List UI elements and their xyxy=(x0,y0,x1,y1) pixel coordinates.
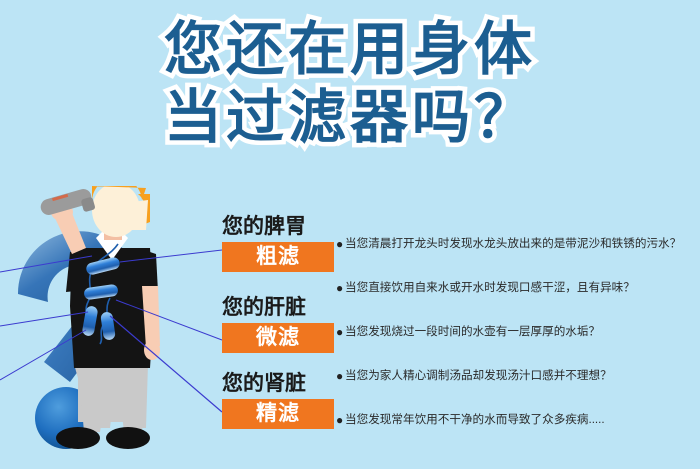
bullet-dot-icon: ● xyxy=(336,368,345,384)
organ-title-2: 您的肝脏 xyxy=(222,296,342,320)
bullet-text-4: 当您为家人精心调制汤品却发现汤汁口感并不理想？ xyxy=(345,368,612,384)
bullet-dot-icon: ● xyxy=(336,280,345,296)
list-item: ● 当您发现常年饮用不干净的水而导致了众多疾病..... xyxy=(336,412,692,456)
question-bullet-list: ● 当您清晨打开龙头时发现水龙头放出来的是带泥沙和铁锈的污水？ ● 当您直接饮用… xyxy=(336,236,692,456)
list-item: ● 当您清晨打开龙头时发现水龙头放出来的是带泥沙和铁锈的污水？ xyxy=(336,236,692,280)
list-item: ● 当您发现烧过一段时间的水壶有一层厚厚的水垢？ xyxy=(336,324,692,368)
bullet-text-2: 当您直接饮用自来水或开水时发现口感干涩，且有异味？ xyxy=(345,280,635,296)
organ-label-group-1: 您的脾胃 粗滤 xyxy=(222,215,342,272)
filter-badge-label-3: 精滤 xyxy=(256,403,300,425)
list-item: ● 当您为家人精心调制汤品却发现汤汁口感并不理想？ xyxy=(336,368,692,412)
organ-label-group-2: 您的肝脏 微滤 xyxy=(222,296,342,353)
filter-badge-2: 微滤 xyxy=(222,323,334,353)
filter-badge-label-2: 微滤 xyxy=(256,327,300,349)
filter-badge-1: 粗滤 xyxy=(222,242,334,272)
organ-title-1: 您的脾胃 xyxy=(222,215,342,239)
bullet-dot-icon: ● xyxy=(336,324,345,340)
list-item: ● 当您直接饮用自来水或开水时发现口感干涩，且有异味？ xyxy=(336,280,692,324)
bullet-dot-icon: ● xyxy=(336,412,345,428)
filter-badge-label-1: 粗滤 xyxy=(256,246,300,268)
bullet-text-5: 当您发现常年饮用不干净的水而导致了众多疾病..... xyxy=(345,412,605,428)
organ-label-group-3: 您的肾脏 精滤 xyxy=(222,372,342,429)
bullet-dot-icon: ● xyxy=(336,236,345,252)
organ-title-3: 您的肾脏 xyxy=(222,372,342,396)
filter-badge-3: 精滤 xyxy=(222,399,334,429)
poster-canvas: 您还在用身体 当过滤器吗？ xyxy=(0,0,700,469)
bullet-text-3: 当您发现烧过一段时间的水壶有一层厚厚的水垢？ xyxy=(345,324,600,340)
bullet-text-1: 当您清晨打开龙头时发现水龙头放出来的是带泥沙和铁锈的污水？ xyxy=(345,236,681,252)
